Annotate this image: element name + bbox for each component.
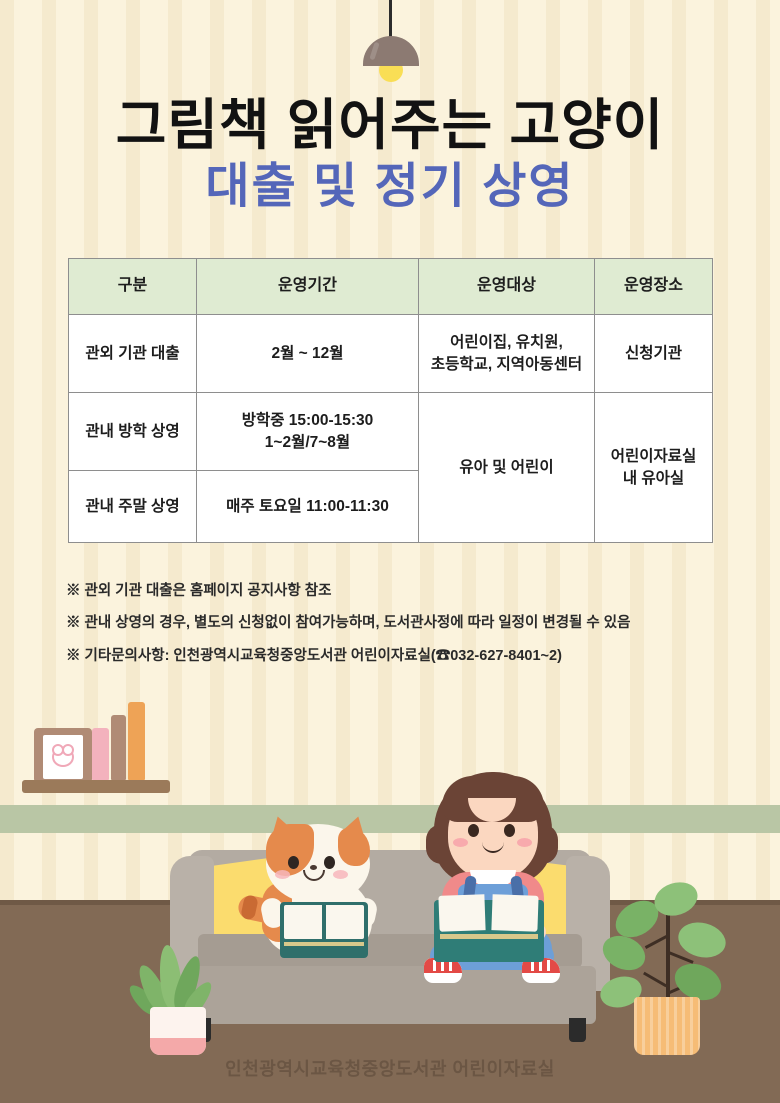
poster-root: 그림책 읽어주는 고양이 대출 및 정기 상영 구분 운영기간 운영대상 운영장… xyxy=(0,0,780,1103)
cell-category-1: 관외 기관 대출 xyxy=(69,315,197,393)
shelf-book-brown xyxy=(111,715,126,780)
note-item: ※ 기타문의사항: 인천광역시교육청중앙도서관 어린이자료실(☎032-627-… xyxy=(66,645,726,667)
book-page-right xyxy=(326,905,364,939)
girl-eye-right xyxy=(504,824,515,837)
wall-shelf xyxy=(22,705,172,805)
schedule-table-wrapper: 구분 운영기간 운영대상 운영장소 관외 기관 대출 2월 ~ 12월 어린이집… xyxy=(68,258,712,543)
sofa-leg-right xyxy=(569,1018,586,1042)
picture-frame-canvas xyxy=(43,735,83,779)
notes-list: ※ 관외 기관 대출은 홈페이지 공지사항 참조 ※ 관내 상영의 경우, 별도… xyxy=(66,580,726,677)
shelf-board xyxy=(22,780,170,793)
girl-eye-left xyxy=(468,824,479,837)
cell-category-3: 관내 주말 상영 xyxy=(69,471,197,543)
lamp-shade xyxy=(363,36,419,66)
plant-leaf xyxy=(597,929,650,976)
cell-place-merged-line1: 어린이자료실 xyxy=(611,448,697,465)
plant-left xyxy=(128,940,224,1055)
cell-audience-1: 어린이집, 유치원, 초등학교, 지역아동센터 xyxy=(419,315,595,393)
plant-right xyxy=(592,845,742,1055)
girl-open-book xyxy=(434,900,544,962)
table-header-period: 운영기간 xyxy=(197,259,419,315)
cat-eye-left xyxy=(288,856,299,869)
plant-pot-base xyxy=(150,1038,206,1055)
shelf-book-orange xyxy=(128,702,145,780)
book-band xyxy=(284,942,364,946)
cat-cheek-left xyxy=(275,870,290,879)
cell-audience-1-line2: 초등학교, 지역아동센터 xyxy=(431,356,582,373)
note-item: ※ 관내 상영의 경우, 별도의 신청없이 참여가능하며, 도서관사정에 따라 … xyxy=(66,612,726,634)
title-block: 그림책 읽어주는 고양이 대출 및 정기 상영 xyxy=(0,96,780,215)
cell-place-merged: 어린이자료실 내 유아실 xyxy=(595,393,713,543)
table-header-audience: 운영대상 xyxy=(419,259,595,315)
pendant-lamp-icon xyxy=(355,0,425,95)
cell-period-2-line1: 방학중 15:00-15:30 xyxy=(242,412,374,429)
cell-period-3: 매주 토요일 11:00-11:30 xyxy=(197,471,419,543)
note-item: ※ 관외 기관 대출은 홈페이지 공지사항 참조 xyxy=(66,580,726,602)
wall-wainscot-band xyxy=(0,805,780,833)
girl-cheek-left xyxy=(453,838,468,847)
table-header-place: 운영장소 xyxy=(595,259,713,315)
bear-drawing-icon xyxy=(52,747,74,767)
cell-period-2-line2: 1~2월/7~8월 xyxy=(265,434,350,451)
plant-pot-right xyxy=(634,997,700,1055)
cell-period-2: 방학중 15:00-15:30 1~2월/7~8월 xyxy=(197,393,419,471)
cell-period-1: 2월 ~ 12월 xyxy=(197,315,419,393)
cell-place-merged-line2: 내 유아실 xyxy=(623,470,684,487)
girl-fringe xyxy=(442,776,544,822)
shoe-stripe xyxy=(547,960,550,971)
table-header-row: 구분 운영기간 운영대상 운영장소 xyxy=(69,259,713,315)
cat-character xyxy=(248,818,388,958)
girl-character xyxy=(412,772,572,987)
shelf-book-pink xyxy=(92,728,109,780)
schedule-table: 구분 운영기간 운영대상 운영장소 관외 기관 대출 2월 ~ 12월 어린이집… xyxy=(68,258,713,543)
cat-open-book xyxy=(280,902,368,958)
footer-organization: 인천광역시교육청중앙도서관 어린이자료실 xyxy=(0,1055,780,1081)
cell-category-2: 관내 방학 상영 xyxy=(69,393,197,471)
plant-pot-left xyxy=(150,1007,206,1055)
book-page-left xyxy=(438,894,485,932)
page-title: 그림책 읽어주는 고양이 xyxy=(0,96,780,155)
cell-audience-1-line1: 어린이집, 유치원, xyxy=(450,334,563,351)
picture-frame xyxy=(34,728,92,783)
cat-eye-right xyxy=(324,856,335,869)
book-band xyxy=(440,934,538,939)
cat-cheek-right xyxy=(333,870,348,879)
cell-audience-merged: 유아 및 어린이 xyxy=(419,393,595,543)
page-subtitle: 대출 및 정기 상영 xyxy=(0,159,780,214)
table-header-category: 구분 xyxy=(69,259,197,315)
table-row: 관외 기관 대출 2월 ~ 12월 어린이집, 유치원, 초등학교, 지역아동센… xyxy=(69,315,713,393)
plant-stem xyxy=(643,972,667,988)
book-page-left xyxy=(284,905,322,939)
lamp-cord xyxy=(389,0,392,40)
table-row: 관내 방학 상영 방학중 15:00-15:30 1~2월/7~8월 유아 및 … xyxy=(69,393,713,471)
cell-place-1: 신청기관 xyxy=(595,315,713,393)
book-page-right xyxy=(491,894,538,932)
girl-cheek-right xyxy=(517,838,532,847)
